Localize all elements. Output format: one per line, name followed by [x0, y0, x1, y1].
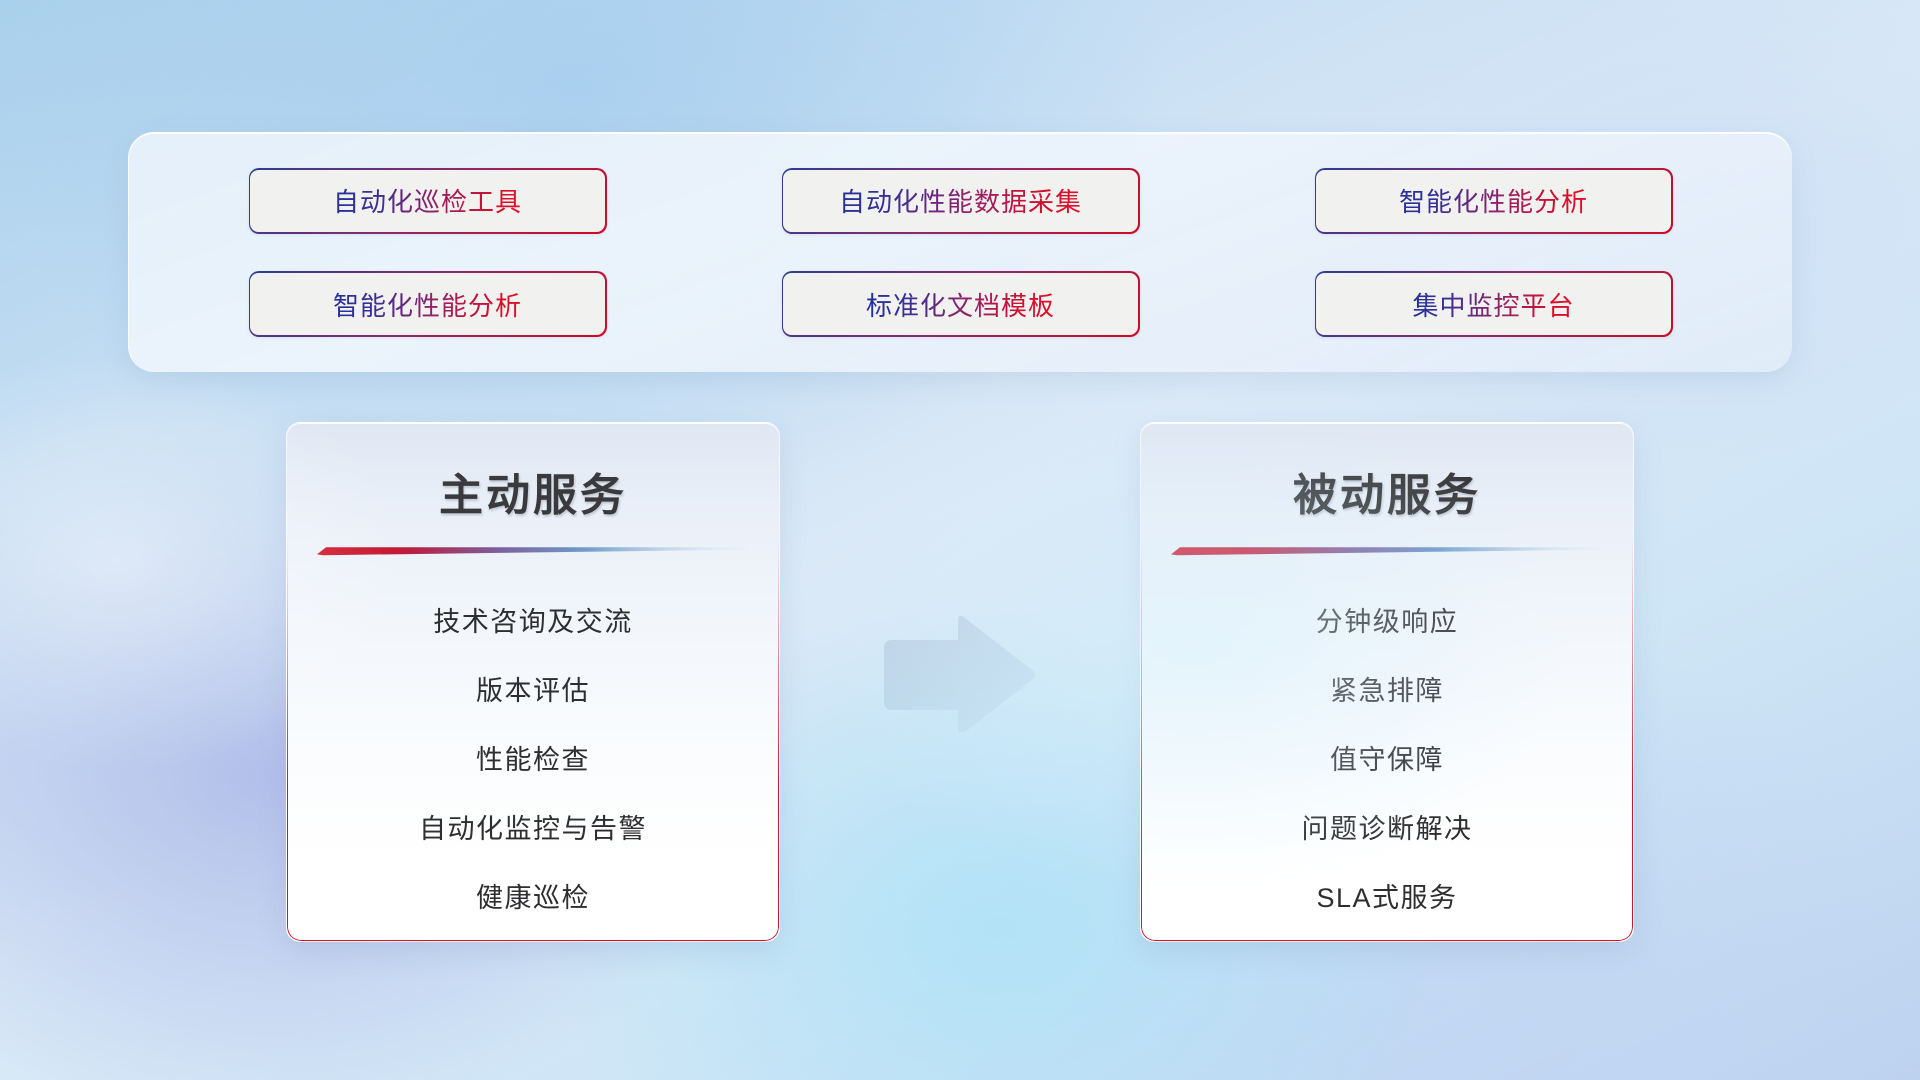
card-item: 值守保障	[1141, 723, 1633, 792]
capability-pill-inner: 自动化性能数据采集	[783, 170, 1137, 232]
divider-wedge-icon	[317, 545, 749, 559]
capability-panel: 自动化巡检工具 自动化性能数据采集 智能化性能分析 智能化性能分析	[128, 132, 1792, 372]
card-item: 技术咨询及交流	[287, 585, 779, 654]
capability-pill[interactable]: 集中监控平台	[1315, 271, 1673, 337]
service-card-proactive[interactable]: 主动服务 技术咨询及交流 版本评估 性能检查	[286, 422, 780, 942]
capability-pill-label: 自动化巡检工具	[333, 182, 522, 219]
card-item: 版本评估	[287, 654, 779, 723]
capability-pill-label: 智能化性能分析	[333, 286, 522, 323]
card-item-list: 技术咨询及交流 版本评估 性能检查 自动化监控与告警 健康巡检	[287, 585, 779, 930]
capability-pill-inner: 集中监控平台	[1316, 273, 1670, 335]
capability-pill[interactable]: 标准化文档模板	[782, 271, 1140, 337]
capability-pill[interactable]: 自动化性能数据采集	[782, 168, 1140, 234]
card-item: 性能检查	[287, 723, 779, 792]
capability-pill-inner: 标准化文档模板	[783, 273, 1137, 335]
card-item: 健康巡检	[287, 861, 779, 930]
card-title: 主动服务	[287, 459, 779, 523]
capability-pill-label: 自动化性能数据采集	[839, 182, 1082, 219]
card-item: SLA式服务	[1141, 861, 1633, 930]
capability-pill-label: 集中监控平台	[1412, 286, 1574, 323]
capability-pill[interactable]: 智能化性能分析	[249, 271, 607, 337]
card-item-list: 分钟级响应 紧急排障 值守保障 问题诊断解决 SLA式服务	[1141, 585, 1633, 930]
card-divider	[1171, 545, 1603, 559]
capability-pill-label: 智能化性能分析	[1399, 182, 1588, 219]
capability-pill-grid: 自动化巡检工具 自动化性能数据采集 智能化性能分析 智能化性能分析	[129, 133, 1792, 372]
card-divider	[317, 545, 749, 559]
card-item: 自动化监控与告警	[287, 792, 779, 861]
card-item: 紧急排障	[1141, 654, 1633, 723]
slide-canvas: 自动化巡检工具 自动化性能数据采集 智能化性能分析 智能化性能分析	[0, 0, 1920, 1080]
divider-wedge-icon	[1171, 545, 1603, 559]
card-item: 分钟级响应	[1141, 585, 1633, 654]
capability-pill[interactable]: 智能化性能分析	[1315, 168, 1673, 234]
capability-pill-inner: 智能化性能分析	[250, 273, 604, 335]
card-item: 问题诊断解决	[1141, 792, 1633, 861]
capability-pill-inner: 智能化性能分析	[1316, 170, 1670, 232]
card-title: 被动服务	[1141, 459, 1633, 523]
capability-pill-label: 标准化文档模板	[866, 286, 1055, 323]
capability-pill-inner: 自动化巡检工具	[250, 170, 604, 232]
arrow-right-icon	[876, 614, 1036, 732]
service-card-reactive[interactable]: 被动服务 分钟级响应 紧急排障 值守保障	[1140, 422, 1634, 942]
capability-pill[interactable]: 自动化巡检工具	[249, 168, 607, 234]
flow-arrow	[876, 614, 1036, 732]
